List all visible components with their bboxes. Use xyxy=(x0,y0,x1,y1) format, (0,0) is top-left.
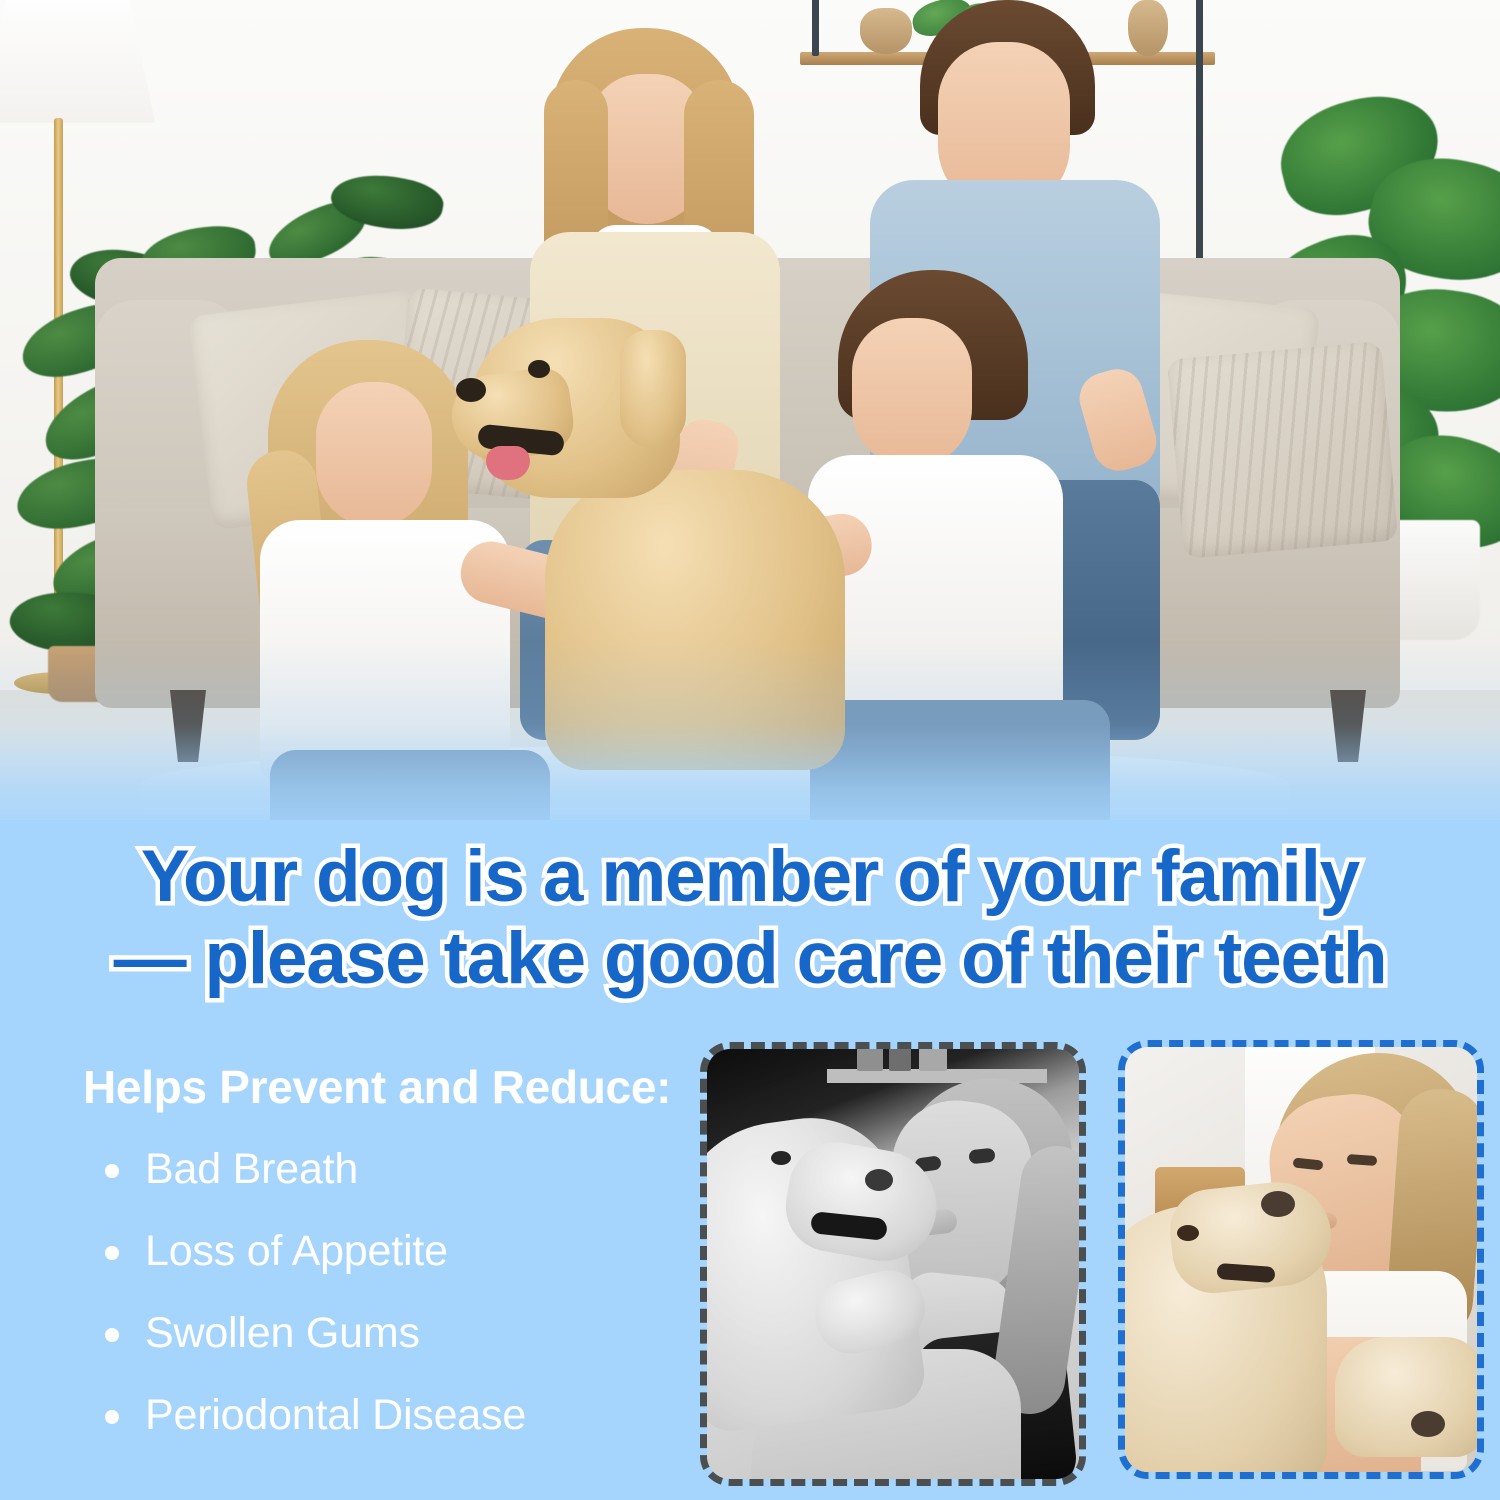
bullet-dot-icon xyxy=(105,1246,119,1260)
list-item: Loss of Appetite xyxy=(83,1226,683,1276)
photo-card-color xyxy=(1118,1040,1484,1479)
benefits-column: Helps Prevent and Reduce: Bad Breath Los… xyxy=(83,1060,683,1472)
list-item: Periodontal Disease xyxy=(83,1390,683,1440)
bullet-dot-icon xyxy=(105,1328,119,1342)
headline-line-2: — please take good care of their teeth xyxy=(0,918,1500,1000)
hero-photo xyxy=(0,0,1500,840)
benefits-heading: Helps Prevent and Reduce: xyxy=(83,1060,683,1114)
bullet-dot-icon xyxy=(105,1410,119,1424)
list-item-label: Loss of Appetite xyxy=(145,1227,448,1275)
headline-line-1: Your dog is a member of your family xyxy=(141,836,1359,917)
bullet-dot-icon xyxy=(105,1164,119,1178)
list-item-label: Swollen Gums xyxy=(145,1309,420,1357)
photo-card-bw-image xyxy=(707,1049,1079,1479)
product-infographic: Your dog is a member of your family — pl… xyxy=(0,0,1500,1500)
lamp-shade xyxy=(0,0,155,123)
benefits-list: Bad Breath Loss of Appetite Swollen Gums… xyxy=(83,1144,683,1440)
photo-card-color-image xyxy=(1125,1047,1477,1472)
list-item-label: Bad Breath xyxy=(145,1145,358,1193)
hero-gradient-fade xyxy=(0,640,1500,840)
page-title: Your dog is a member of your family — pl… xyxy=(0,836,1500,1000)
list-item: Bad Breath xyxy=(83,1144,683,1194)
throw-pillow xyxy=(1167,341,1399,559)
photo-card-bw xyxy=(700,1042,1086,1486)
list-item-label: Periodontal Disease xyxy=(145,1391,526,1439)
list-item: Swollen Gums xyxy=(83,1308,683,1358)
